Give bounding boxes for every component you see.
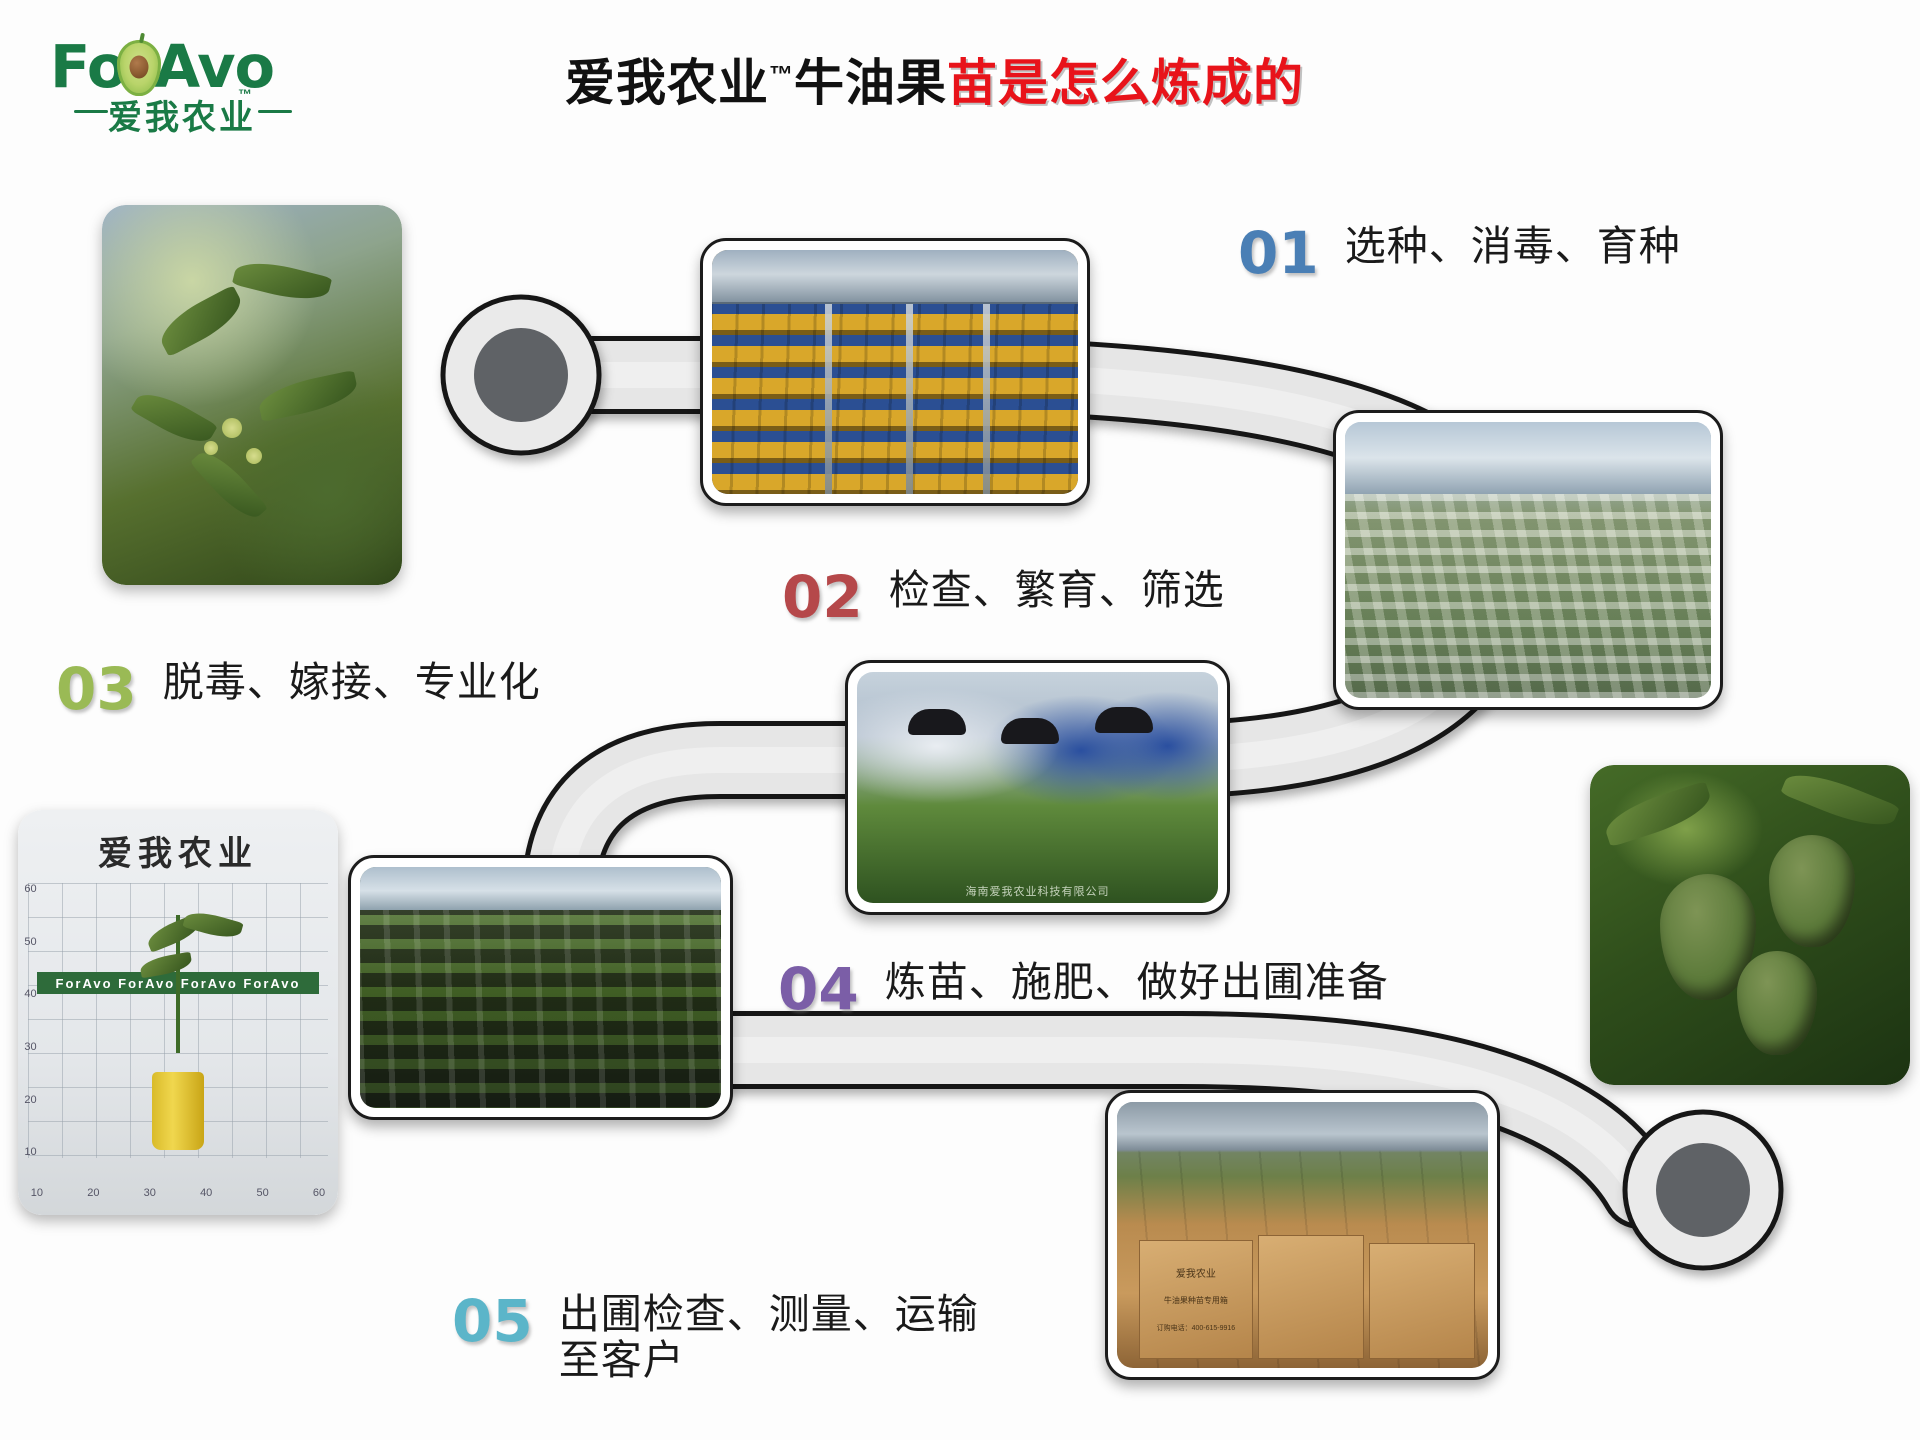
step-01-number: 01 xyxy=(1238,224,1319,282)
scale-tick: 30 xyxy=(144,1187,156,1203)
title-tm-mark: ™ xyxy=(769,61,794,88)
carton-sublabel: 牛油果种苗专用箱 xyxy=(1140,1295,1251,1306)
photo-inner: 海南爱我农业科技有限公司 xyxy=(857,672,1218,903)
step-04-number: 04 xyxy=(778,960,859,1018)
logo-rule-right xyxy=(258,110,292,113)
pots-photo-art xyxy=(360,867,721,1108)
step-02[interactable]: 02 检查、繁育、筛选 xyxy=(782,568,1225,626)
photo-staff-inspecting[interactable]: 海南爱我农业科技有限公司 xyxy=(845,660,1230,915)
scale-tick: 40 xyxy=(24,988,64,1000)
step-03[interactable]: 03 脱毒、嫁接、专业化 xyxy=(56,660,541,718)
brand-tm-mark: ™ xyxy=(238,86,252,102)
scale-tick: 60 xyxy=(24,883,64,895)
photo-measured-seedling[interactable]: 爱我农业 ForAvo ForAvo ForAvo ForAvo 60 50 4… xyxy=(18,810,338,1215)
photo-packed-cartons[interactable]: 爱我农业 牛油果种苗专用箱 订购电话：400-615-9916 xyxy=(1105,1090,1500,1380)
title-black-part2: 牛油果 xyxy=(794,55,947,111)
scale-tick: 20 xyxy=(87,1187,99,1203)
ruler-brand-text: 爱我农业 xyxy=(18,826,338,875)
step-01[interactable]: 01 选种、消毒、育种 xyxy=(1238,224,1681,282)
scale-tick: 30 xyxy=(24,1041,64,1053)
step-05-label-line2: 至客户 xyxy=(559,1337,685,1383)
step-04[interactable]: 04 炼苗、施肥、做好出圃准备 xyxy=(778,960,1389,1018)
photo-flowering-branch[interactable] xyxy=(102,205,402,585)
logo-rule-left xyxy=(74,110,108,113)
photo-seed-trays[interactable] xyxy=(700,238,1090,506)
step-02-label: 检查、繁育、筛选 xyxy=(889,568,1225,614)
fruit-photo-art xyxy=(1590,765,1910,1085)
ruler-scale-left: 60 50 40 30 20 10 xyxy=(24,883,64,1158)
carton-label: 爱我农业 xyxy=(1140,1265,1251,1280)
step-04-label: 炼苗、施肥、做好出圃准备 xyxy=(885,960,1389,1006)
step-01-label: 选种、消毒、育种 xyxy=(1345,224,1681,270)
step-05-number: 05 xyxy=(452,1292,533,1350)
photo-watermark: 海南爱我农业科技有限公司 xyxy=(857,883,1218,899)
scale-tick: 50 xyxy=(24,936,64,948)
branch-photo-art xyxy=(102,205,402,585)
step-05-label: 出圃检查、测量、运输 至客户 xyxy=(559,1292,979,1384)
seedling-pot xyxy=(152,1072,204,1150)
scale-tick: 60 xyxy=(313,1187,325,1203)
photo-inner xyxy=(1590,765,1910,1085)
scale-tick: 10 xyxy=(24,1146,64,1158)
brand-chinese-name: 爱我农业 xyxy=(108,90,256,139)
photo-avocado-fruit[interactable] xyxy=(1590,765,1910,1085)
photo-inner xyxy=(1345,422,1711,698)
nursery-photo-art xyxy=(1345,422,1711,698)
brand-logo[interactable]: ForAvo 爱我农业 ™ xyxy=(44,30,344,145)
ruler-photo-art: 爱我农业 ForAvo ForAvo ForAvo ForAvo 60 50 4… xyxy=(18,810,338,1215)
step-02-number: 02 xyxy=(782,568,863,626)
staff-photo-art: 海南爱我农业科技有限公司 xyxy=(857,672,1218,903)
photo-potted-rows[interactable] xyxy=(348,855,733,1120)
photo-inner: 爱我农业 牛油果种苗专用箱 订购电话：400-615-9916 xyxy=(1117,1102,1488,1368)
photo-inner: 爱我农业 ForAvo ForAvo ForAvo ForAvo 60 50 4… xyxy=(18,810,338,1215)
ruler-scale-bottom: 10 20 30 40 50 60 xyxy=(31,1187,325,1203)
scale-tick: 50 xyxy=(256,1187,268,1203)
infographic-canvas: ForAvo 爱我农业 ™ 爱我农业™牛油果苗是怎么炼成的 xyxy=(0,0,1920,1440)
page-title: 爱我农业™牛油果苗是怎么炼成的 xyxy=(565,43,1304,115)
photo-inner xyxy=(360,867,721,1108)
step-03-label: 脱毒、嫁接、专业化 xyxy=(163,660,541,706)
scale-tick: 40 xyxy=(200,1187,212,1203)
title-black-part: 爱我农业 xyxy=(565,55,769,111)
scale-tick: 20 xyxy=(24,1094,64,1106)
photo-inner xyxy=(102,205,402,585)
trays-photo-art xyxy=(712,250,1078,494)
photo-inner xyxy=(712,250,1078,494)
step-03-number: 03 xyxy=(56,660,137,718)
title-red-part: 苗是怎么炼成的 xyxy=(947,55,1304,111)
carton-phone: 订购电话：400-615-9916 xyxy=(1140,1323,1251,1333)
step-05-label-line1: 出圃检查、测量、运输 xyxy=(559,1291,979,1337)
scale-tick: 10 xyxy=(31,1187,43,1203)
boxes-photo-art: 爱我农业 牛油果种苗专用箱 订购电话：400-615-9916 xyxy=(1117,1102,1488,1368)
photo-nursery-bags[interactable] xyxy=(1333,410,1723,710)
step-05[interactable]: 05 出圃检查、测量、运输 至客户 xyxy=(452,1292,979,1384)
